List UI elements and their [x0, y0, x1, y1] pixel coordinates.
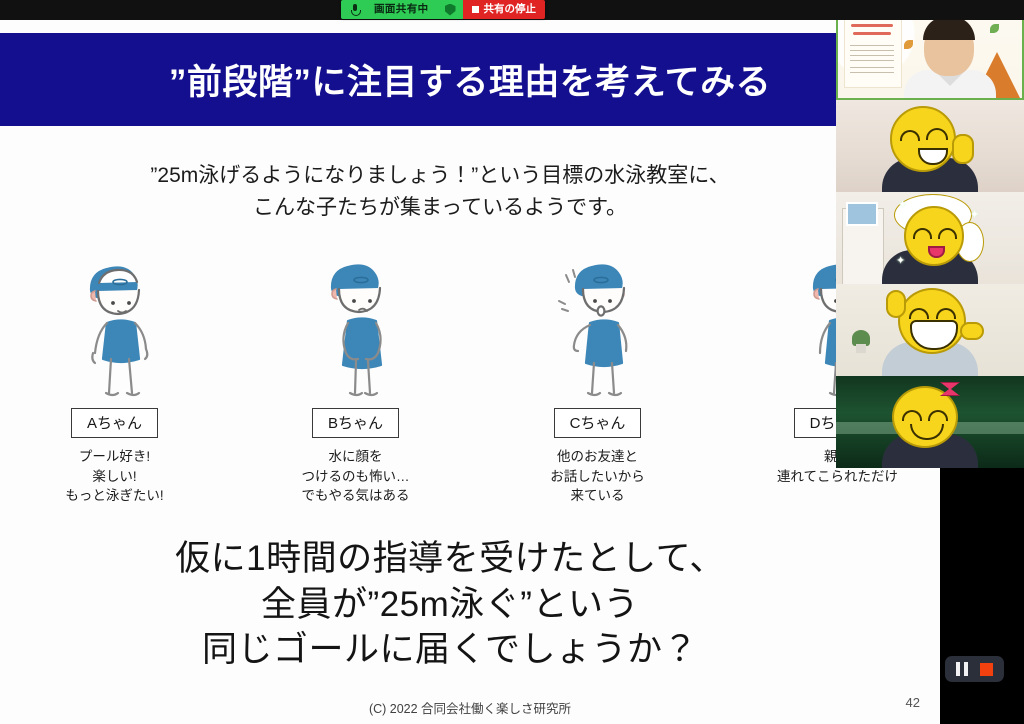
stop-icon[interactable]: [980, 663, 993, 676]
slide-subtitle: ”25m泳げるようになりましょう！”という目標の水泳教室に、 こんな子たちが集ま…: [0, 160, 880, 224]
kid-desc-c-line-1: 他のお友達と: [490, 447, 705, 467]
sparkle-icon: ✦: [970, 210, 979, 221]
slide-page-number: 42: [906, 695, 920, 710]
kid-desc-a-line-1: プール好き!: [7, 447, 222, 467]
share-control-pills: 画面共有中 共有の停止: [341, 0, 545, 19]
kid-card-a: Aちゃん プール好き! 楽しい! もっと泳ぎたい!: [7, 255, 222, 506]
stop-share-label: 共有の停止: [484, 4, 537, 15]
kid-desc-a-line-3: もっと泳ぎたい!: [7, 486, 222, 506]
stop-share-button[interactable]: 共有の停止: [463, 0, 546, 19]
child-swimmer-shy-icon: [304, 261, 408, 401]
emoji-ribbon-bow: [940, 382, 960, 396]
screen-share-toolbar: 画面共有中 共有の停止: [0, 0, 1024, 20]
kid-name-a: Aちゃん: [71, 408, 158, 438]
sharing-status-button[interactable]: 画面共有中: [341, 0, 438, 19]
security-shield-button[interactable]: [438, 0, 463, 19]
kid-desc-c-line-2: お話したいから: [490, 467, 705, 487]
kid-desc-a: プール好き! 楽しい! もっと泳ぎたい!: [7, 447, 222, 506]
closing-line-2: 全員が”25m泳ぐ”という: [0, 582, 900, 628]
slide-title: ”前段階”に注目する理由を考えてみる: [0, 33, 940, 126]
kid-card-c: Cちゃん 他のお友達と お話したいから 来ている: [490, 255, 705, 506]
slide-title-band: ”前段階”に注目する理由を考えてみる: [0, 33, 940, 126]
kid-desc-a-line-2: 楽しい!: [7, 467, 222, 487]
video-tile-participant-2[interactable]: [836, 100, 1024, 192]
emoji-peace-hand: [952, 134, 974, 164]
participant-2-background: [836, 100, 1024, 192]
closing-line-1: 仮に1時間の指導を受けたとして、: [0, 536, 900, 582]
pause-icon[interactable]: [956, 662, 968, 676]
slide-footer-copyright: (C) 2022 合同会社働く楽しさ研究所: [0, 698, 940, 717]
kid-desc-c-line-3: 来ている: [490, 486, 705, 506]
stop-square-icon: [472, 6, 479, 13]
video-tile-participant-4[interactable]: [836, 284, 1024, 376]
emoji-waving-hand: [886, 290, 906, 318]
video-tile-participant-3[interactable]: ✦ ✦ ✦: [836, 192, 1024, 284]
recording-controls[interactable]: [945, 656, 1004, 682]
video-participant-filmstrip[interactable]: ✦ ✦ ✦: [836, 4, 1024, 476]
subtitle-line-1: ”25m泳げるようになりましょう！”という目標の水泳教室に、: [0, 160, 880, 192]
kid-illustration-b: [248, 255, 463, 401]
kid-desc-b-line-1: 水に顔を: [248, 447, 463, 467]
kid-desc-b-line-2: つけるのも怖い…: [248, 467, 463, 487]
emoji-face-laughing: [898, 288, 966, 354]
participant-3-background: ✦ ✦ ✦: [836, 192, 1024, 284]
kid-illustration-c: [490, 255, 705, 401]
kid-illustration-a: [7, 255, 222, 401]
shield-icon: [445, 4, 456, 16]
sparkle-icon: ✦: [896, 256, 905, 267]
closing-line-3: 同じゴールに届くでしょうか？: [0, 627, 900, 673]
kid-desc-b-line-3: でもやる気はある: [248, 486, 463, 506]
kid-desc-b: 水に顔を つけるのも怖い… でもやる気はある: [248, 447, 463, 506]
closing-question: 仮に1時間の指導を受けたとして、 全員が”25m泳ぐ”という 同じゴールに届くで…: [0, 536, 900, 673]
child-swimmer-happy-icon: [63, 261, 167, 401]
kid-name-c: Cちゃん: [554, 408, 642, 438]
sparkle-icon: ✦: [898, 200, 907, 211]
kid-card-b: Bちゃん 水に顔を つけるのも怖い… でもやる気はある: [248, 255, 463, 506]
emoji-face-wink: [890, 106, 956, 172]
participant-4-background: [836, 284, 1024, 376]
subtitle-line-2: こんな子たちが集まっているようです。: [0, 192, 880, 224]
kid-desc-c: 他のお友達と お話したいから 来ている: [490, 447, 705, 506]
emoji-face-princess: [904, 206, 964, 266]
microphone-icon: [350, 4, 360, 16]
sharing-status-label: 画面共有中: [374, 4, 429, 15]
video-tile-participant-5[interactable]: [836, 376, 1024, 468]
kid-name-b: Bちゃん: [312, 408, 399, 438]
poster-graphic: [844, 14, 902, 88]
kids-row: Aちゃん プール好き! 楽しい! もっと泳ぎたい!: [0, 255, 940, 525]
emoji-hand-right: [960, 322, 984, 340]
child-swimmer-talking-icon: [546, 261, 650, 401]
screen-share-window: 画面共有中 共有の停止 ”前段階”に注目する理由を考えてみる ”25m泳げるよう…: [0, 0, 1024, 724]
shared-slide: ”前段階”に注目する理由を考えてみる ”25m泳げるようになりましょう！”という…: [0, 20, 940, 724]
participant-5-background: [836, 376, 1024, 468]
